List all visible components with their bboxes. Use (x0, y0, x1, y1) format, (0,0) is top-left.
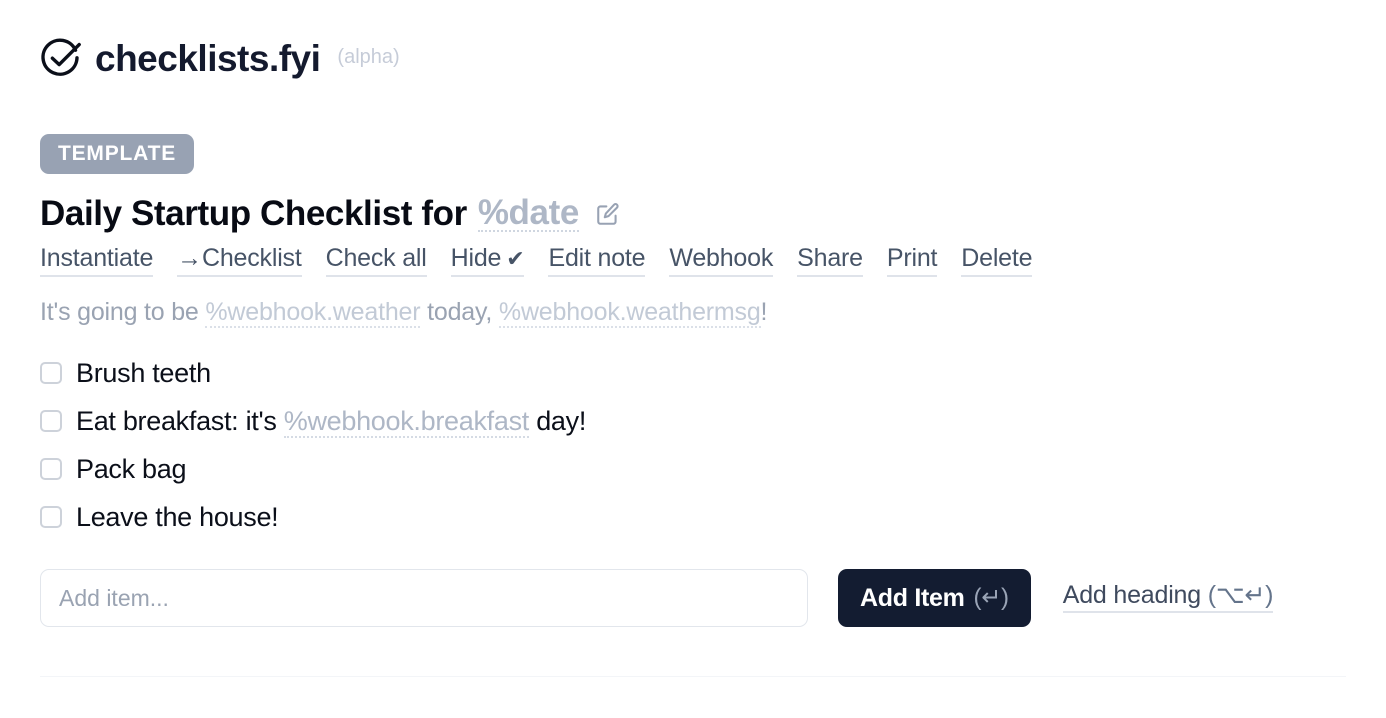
note-text-1: It's going to be (40, 298, 205, 326)
add-heading-shortcut-hint: (⌥↵) (1208, 581, 1274, 609)
action-instantiate[interactable]: Instantiate (40, 246, 153, 277)
action-check-all[interactable]: Check all (326, 246, 427, 277)
action-print[interactable]: Print (887, 246, 937, 277)
checklist-note[interactable]: It's going to be %webhook.weather today,… (40, 297, 1346, 327)
title-date-token[interactable]: %date (478, 195, 579, 232)
action-edit-note[interactable]: Edit note (548, 246, 645, 277)
action-to-checklist[interactable]: →Checklist (177, 246, 301, 277)
add-item-button-label: Add Item (860, 586, 965, 611)
item-text-pre: Eat breakfast: it's (76, 406, 284, 436)
item-text-pre: Brush teeth (76, 358, 211, 388)
item-checkbox[interactable] (40, 506, 62, 528)
bottom-divider (40, 676, 1346, 677)
list-item[interactable]: Pack bag (40, 445, 1346, 493)
action-links: Instantiate →Checklist Check all Hide✔ E… (40, 246, 1346, 277)
check-mark-icon: ✔ (506, 246, 524, 271)
item-text-pre: Pack bag (76, 454, 186, 484)
item-checkbox[interactable] (40, 458, 62, 480)
checklist-page: checklists.fyi (alpha) TEMPLATE Daily St… (0, 0, 1386, 718)
circle-check-icon (40, 37, 82, 79)
item-token-breakfast: %webhook.breakfast (284, 406, 529, 438)
item-text-pre: Leave the house! (76, 502, 278, 532)
item-label: Leave the house! (76, 504, 278, 531)
add-item-shortcut-hint: (↵) (974, 586, 1009, 610)
list-item[interactable]: Brush teeth (40, 349, 1346, 397)
app-header: checklists.fyi (alpha) (40, 0, 1346, 86)
item-label: Eat breakfast: it's %webhook.breakfast d… (76, 408, 586, 435)
edit-pencil-square-icon[interactable] (595, 201, 621, 227)
checklist-items: Brush teeth Eat breakfast: it's %webhook… (40, 349, 1346, 541)
add-heading-label: Add heading (1063, 581, 1208, 609)
item-label: Pack bag (76, 456, 186, 483)
template-badge: TEMPLATE (40, 134, 194, 174)
add-item-button[interactable]: Add Item(↵) (838, 569, 1031, 627)
note-text-3: ! (761, 298, 768, 326)
add-item-row: Add Item(↵) Add heading (⌥↵) (40, 569, 1346, 627)
note-token-weather: %webhook.weather (205, 298, 420, 328)
add-item-input[interactable] (40, 569, 808, 627)
action-hide-label: Hide (451, 244, 502, 272)
action-delete[interactable]: Delete (961, 246, 1032, 277)
note-text-2: today, (420, 298, 499, 326)
action-webhook[interactable]: Webhook (669, 246, 773, 277)
action-share[interactable]: Share (797, 246, 863, 277)
item-checkbox[interactable] (40, 362, 62, 384)
item-label: Brush teeth (76, 360, 211, 387)
brand-name: checklists.fyi (95, 40, 320, 77)
item-checkbox[interactable] (40, 410, 62, 432)
note-token-weathermsg: %webhook.weathermsg (499, 298, 761, 328)
badge-row: TEMPLATE (40, 134, 1346, 174)
add-heading-button[interactable]: Add heading (⌥↵) (1063, 583, 1274, 613)
page-title: Daily Startup Checklist for %date (40, 195, 1346, 232)
alpha-label: (alpha) (337, 47, 399, 69)
item-text-post: day! (529, 406, 586, 436)
action-hide[interactable]: Hide✔ (451, 246, 525, 277)
list-item[interactable]: Eat breakfast: it's %webhook.breakfast d… (40, 397, 1346, 445)
list-item[interactable]: Leave the house! (40, 493, 1346, 541)
title-prefix: Daily Startup Checklist for (40, 196, 467, 231)
